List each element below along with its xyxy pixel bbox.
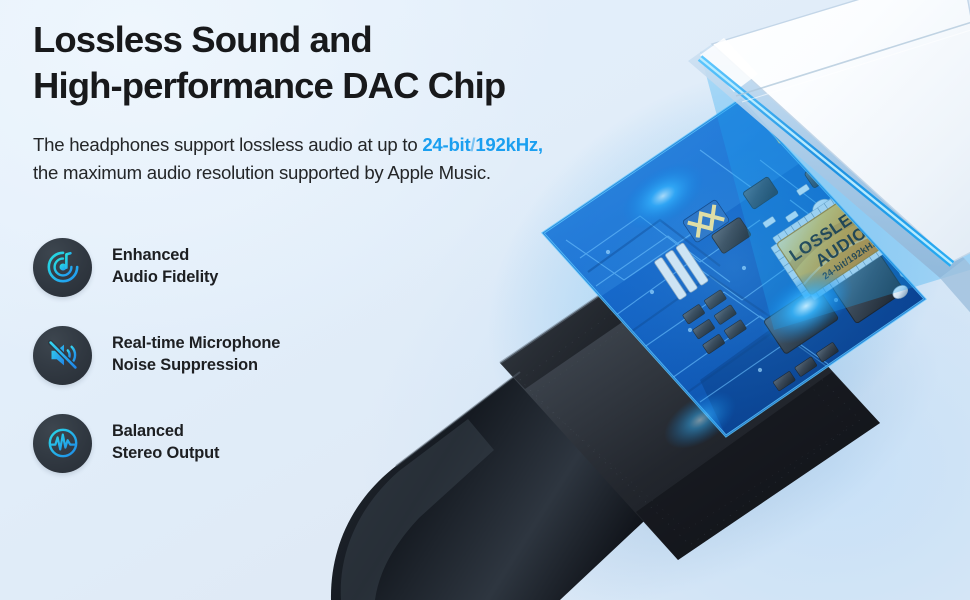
feature-1-line-2: Audio Fidelity xyxy=(112,267,218,289)
feature-3-line-2: Stereo Output xyxy=(112,443,219,465)
subtitle-line2: the maximum audio resolution supported b… xyxy=(33,162,491,183)
headline-line-1: Lossless Sound and xyxy=(33,19,372,60)
audio-ripple-note-icon xyxy=(33,238,92,297)
spec-highlight-sample-rate: 192kHz, xyxy=(475,134,543,155)
chip-label-spec: 24-bit/192kHz xyxy=(821,238,880,282)
waveform-circle-icon xyxy=(33,414,92,473)
chip-label-line2: AUDIO xyxy=(812,223,870,271)
feature-1-line-1: Enhanced xyxy=(112,245,218,267)
usb-c-metal-tip xyxy=(688,0,970,330)
connector-pins xyxy=(727,0,927,145)
muted-speaker-icon xyxy=(33,326,92,385)
spec-highlight-bit-depth: 24-bit xyxy=(422,134,470,155)
headline-line-2: High-performance DAC Chip xyxy=(33,63,653,109)
feature-label: Real-time Microphone Noise Suppression xyxy=(112,333,280,377)
feature-2-line-2: Noise Suppression xyxy=(112,355,280,377)
lossless-audio-chip: LOSSLESS AUDIO 24-bit/192kHz xyxy=(767,176,907,304)
chip-label-line1: LOSSLESS xyxy=(786,197,875,265)
edge-glow-highlight xyxy=(746,253,866,360)
feature-list: Enhanced Audio Fidelity xyxy=(33,237,280,473)
feature-label: Enhanced Audio Fidelity xyxy=(112,245,218,289)
feature-3-line-1: Balanced xyxy=(112,421,219,443)
page-title: Lossless Sound and High-performance DAC … xyxy=(33,17,653,109)
feature-item-noise-suppression: Real-time Microphone Noise Suppression xyxy=(33,325,280,385)
feature-item-stereo-output: Balanced Stereo Output xyxy=(33,413,280,473)
feature-item-enhanced-audio-fidelity: Enhanced Audio Fidelity xyxy=(33,237,280,297)
subtitle: The headphones support lossless audio at… xyxy=(33,131,693,188)
product-feature-banner: LOSSLESS AUDIO 24-bit/192kHz xyxy=(0,0,970,600)
feature-label: Balanced Stereo Output xyxy=(112,421,219,465)
subtitle-line1-before: The headphones support lossless audio at… xyxy=(33,134,422,155)
feature-2-line-1: Real-time Microphone xyxy=(112,333,280,355)
copy-block: Lossless Sound and High-performance DAC … xyxy=(0,0,560,600)
